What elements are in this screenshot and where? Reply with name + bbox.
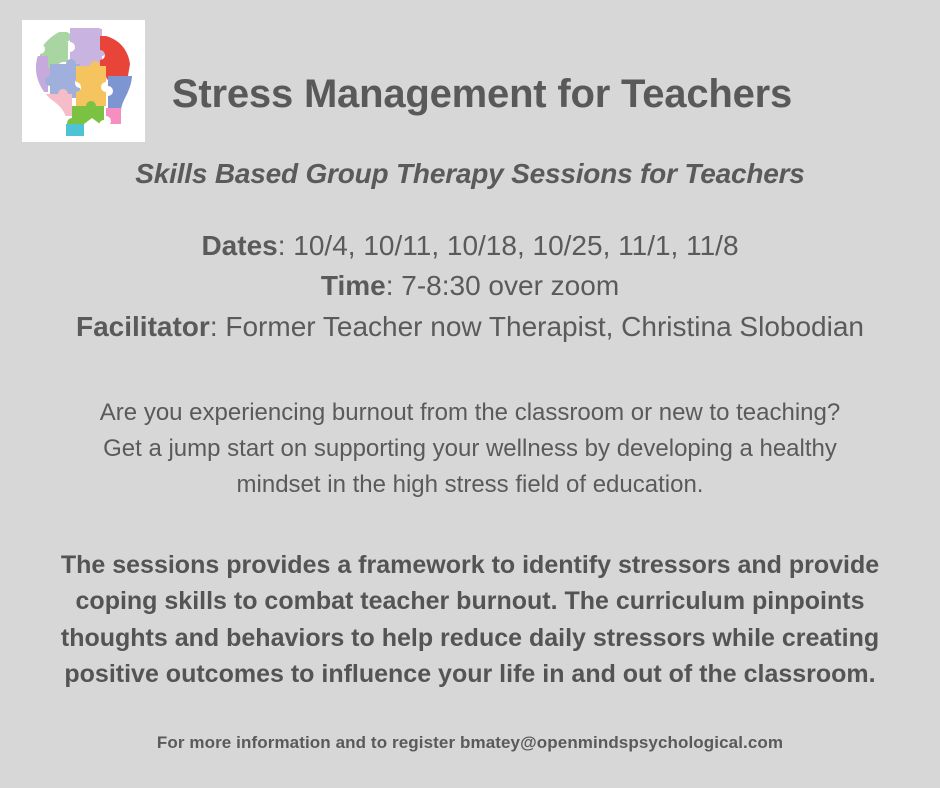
dates-value: : 10/4, 10/11, 10/18, 10/25, 11/1, 11/8 <box>278 230 739 261</box>
intro-line-2: Get a jump start on supporting your well… <box>24 431 916 467</box>
flyer-header: Stress Management for Teachers <box>0 0 940 146</box>
body-line-1: The sessions provides a framework to ide… <box>8 547 932 584</box>
intro-line-1: Are you experiencing burnout from the cl… <box>24 395 916 431</box>
detail-row-facilitator: Facilitator: Former Teacher now Therapis… <box>0 307 940 347</box>
body-paragraph: The sessions provides a framework to ide… <box>0 547 940 693</box>
body-line-2: coping skills to combat teacher burnout.… <box>8 583 932 620</box>
session-details: Dates: 10/4, 10/11, 10/18, 10/25, 11/1, … <box>0 226 940 347</box>
page-subtitle: Skills Based Group Therapy Sessions for … <box>0 158 940 190</box>
detail-row-time: Time: 7-8:30 over zoom <box>0 266 940 306</box>
intro-paragraph: Are you experiencing burnout from the cl… <box>0 395 940 503</box>
detail-row-dates: Dates: 10/4, 10/11, 10/18, 10/25, 11/1, … <box>0 226 940 266</box>
facilitator-value: : Former Teacher now Therapist, Christin… <box>210 311 864 342</box>
facilitator-label: Facilitator <box>76 311 210 342</box>
dates-label: Dates <box>201 230 277 261</box>
body-line-4: positive outcomes to influence your life… <box>8 656 932 693</box>
page-title: Stress Management for Teachers <box>0 74 940 114</box>
time-label: Time <box>321 270 386 301</box>
flyer-poster: Stress Management for Teachers Skills Ba… <box>0 0 940 788</box>
body-line-3: thoughts and behaviors to help reduce da… <box>8 620 932 657</box>
intro-line-3: mindset in the high stress field of educ… <box>24 467 916 503</box>
contact-footer: For more information and to register bma… <box>0 733 940 753</box>
time-value: : 7-8:30 over zoom <box>386 270 619 301</box>
